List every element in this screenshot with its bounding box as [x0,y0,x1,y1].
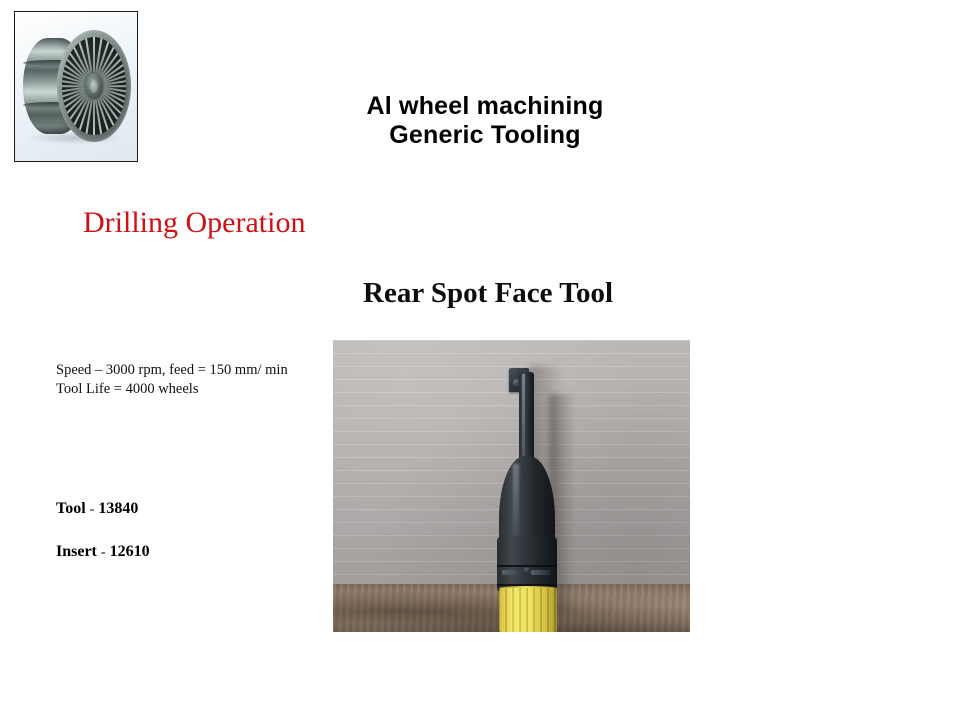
insert-number-value: 12610 [110,543,150,560]
tool-illustration [473,360,583,632]
tool-yellow-collar [499,588,557,632]
tool-specifications: Speed – 3000 rpm, feed = 150 mm/ min Too… [56,361,288,398]
spec-tool-life: Tool Life = 4000 wheels [56,380,288,399]
insert-number-row: Insert - 12610 [56,543,150,586]
page-title: Al wheel machining Generic Tooling [240,92,730,150]
page-title-line-2: Generic Tooling [240,121,730,150]
wheel-hub-cap [90,80,98,93]
tool-title: Rear Spot Face Tool [363,277,613,310]
tool-marking [502,570,520,575]
spec-speed-feed: Speed – 3000 rpm, feed = 150 mm/ min [56,361,288,380]
wheel-spoke-area [62,37,126,135]
wheel-rim-face [57,30,131,142]
alloy-wheel-photo [14,11,138,162]
tool-number-row: Tool - 13840 [56,500,150,543]
tool-tapered-neck [499,456,555,546]
wheel-hub [85,73,103,99]
tool-marking [531,570,551,575]
tool-number-dash: - [90,502,95,517]
tool-number-value: 13840 [98,500,138,517]
tool-neck-highlight [513,464,519,542]
operation-title: Drilling Operation [83,206,305,240]
tool-body-hole [524,567,530,573]
insert-number-label: Insert [56,543,97,560]
wheel-illustration [17,26,137,146]
rear-spot-face-tool-photo [333,340,690,632]
slide-canvas: Al wheel machining Generic Tooling Drill… [0,0,960,720]
part-numbers: Tool - 13840 Insert - 12610 [56,500,150,586]
page-title-line-1: Al wheel machining [240,92,730,121]
tool-number-label: Tool [56,500,86,517]
insert-number-dash: - [101,545,106,560]
wheel-drop-shadow [27,132,123,144]
